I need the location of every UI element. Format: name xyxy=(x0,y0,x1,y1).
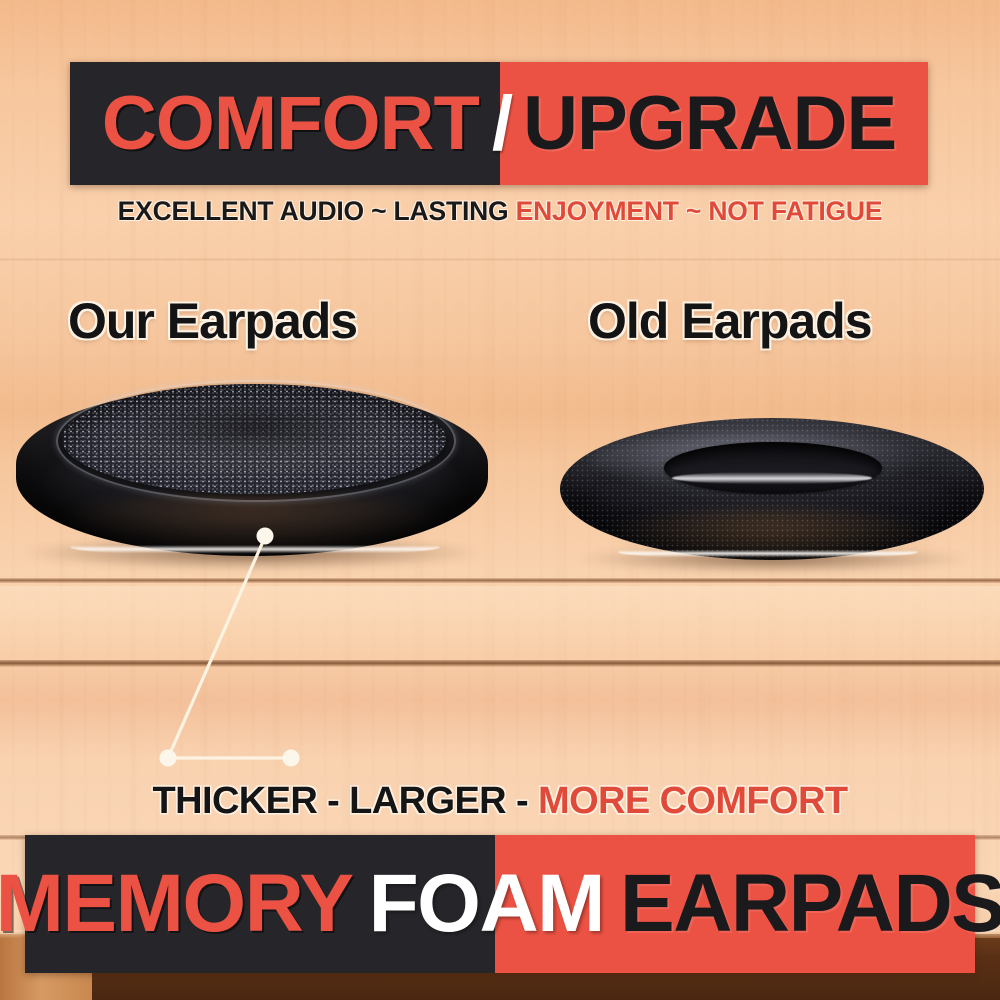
bottom-banner-headline: MEMORY FOAM EARPADS xyxy=(25,835,975,973)
wood-board-highlight xyxy=(0,586,1000,660)
wood-plank-seam xyxy=(0,578,1000,583)
product-image-old-earpad xyxy=(560,418,984,573)
caption-dark-text: THICKER - LARGER - xyxy=(153,780,529,822)
headline-word-upgrade: UPGRADE xyxy=(523,86,896,162)
caption-red-text: MORE COMFORT xyxy=(538,780,847,822)
our-earpad-base-highlight xyxy=(70,538,440,556)
headline-separator-slash: / xyxy=(492,86,512,162)
bottom-banner: MEMORY FOAM EARPADS xyxy=(25,835,975,973)
feature-caption: THICKER - LARGER - MORE COMFORT xyxy=(0,780,1000,823)
product-infographic: COMFORT / UPGRADE EXCELLENT AUDIO ~ LAST… xyxy=(0,0,1000,1000)
our-earpad-top-rim xyxy=(56,380,456,502)
top-banner-headline: COMFORT / UPGRADE xyxy=(70,62,928,185)
product-label-old-earpads: Old Earpads xyxy=(588,292,872,350)
wood-plank-seam xyxy=(0,258,1000,261)
wood-plank-seam xyxy=(0,660,1000,667)
product-label-our-earpads: Our Earpads xyxy=(68,292,357,350)
top-banner: COMFORT / UPGRADE xyxy=(70,62,928,185)
old-earpad-base-highlight xyxy=(618,545,918,559)
headline-word-comfort: COMFORT xyxy=(102,86,479,162)
bottom-headline-word-memory: MEMORY xyxy=(0,863,353,945)
subtitle-red-text: ENJOYMENT ~ NOT FATIGUE xyxy=(516,196,883,226)
product-image-our-earpad xyxy=(10,372,495,572)
bottom-headline-word-earpads: EARPADS xyxy=(620,863,1000,945)
old-earpad-hole-highlight xyxy=(672,472,872,484)
old-earpad-center-hole xyxy=(664,442,882,494)
bottom-headline-word-foam: FOAM xyxy=(369,863,604,945)
subtitle-tagline: EXCELLENT AUDIO ~ LASTING ENJOYMENT ~ NO… xyxy=(0,196,1000,227)
subtitle-dark-text: EXCELLENT AUDIO ~ LASTING xyxy=(118,196,509,226)
